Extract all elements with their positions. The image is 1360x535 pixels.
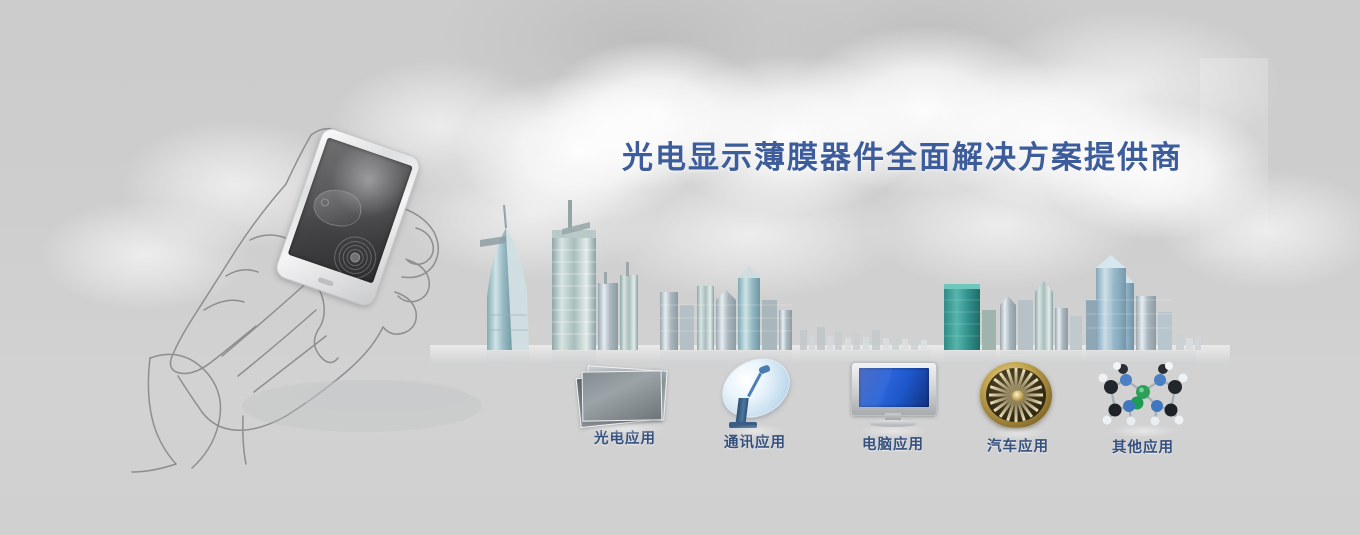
hero-banner: 光电应用 通讯应用 电脑应用 <box>0 0 1360 535</box>
midtown-cluster <box>660 266 792 350</box>
molecule-model <box>1093 362 1193 428</box>
glass-panels-icon <box>576 362 674 424</box>
main-tower <box>552 200 638 350</box>
application-other[interactable]: 其他应用 <box>1093 362 1193 457</box>
application-label: 汽车应用 <box>978 438 1058 456</box>
application-automotive[interactable]: 汽车应用 <box>978 360 1058 456</box>
molecule-icon <box>1093 362 1193 433</box>
screen-swirl-graphic <box>311 187 363 229</box>
right-cluster <box>1000 281 1082 350</box>
car-wheel-icon <box>978 360 1058 432</box>
application-computer[interactable]: 电脑应用 <box>847 362 939 454</box>
application-label: 电脑应用 <box>847 436 939 454</box>
satellite-dish-icon <box>709 358 801 428</box>
application-optoelectronic[interactable]: 光电应用 <box>576 362 674 448</box>
blue-towers <box>1086 255 1201 350</box>
distant-lowrise <box>800 327 927 350</box>
computer-monitor-icon <box>847 362 939 430</box>
page-title: 光电显示薄膜器件全面解决方案提供商 <box>622 138 1183 178</box>
application-label: 其他应用 <box>1093 439 1193 457</box>
application-communication[interactable]: 通讯应用 <box>709 358 801 452</box>
teal-tower <box>944 284 996 350</box>
